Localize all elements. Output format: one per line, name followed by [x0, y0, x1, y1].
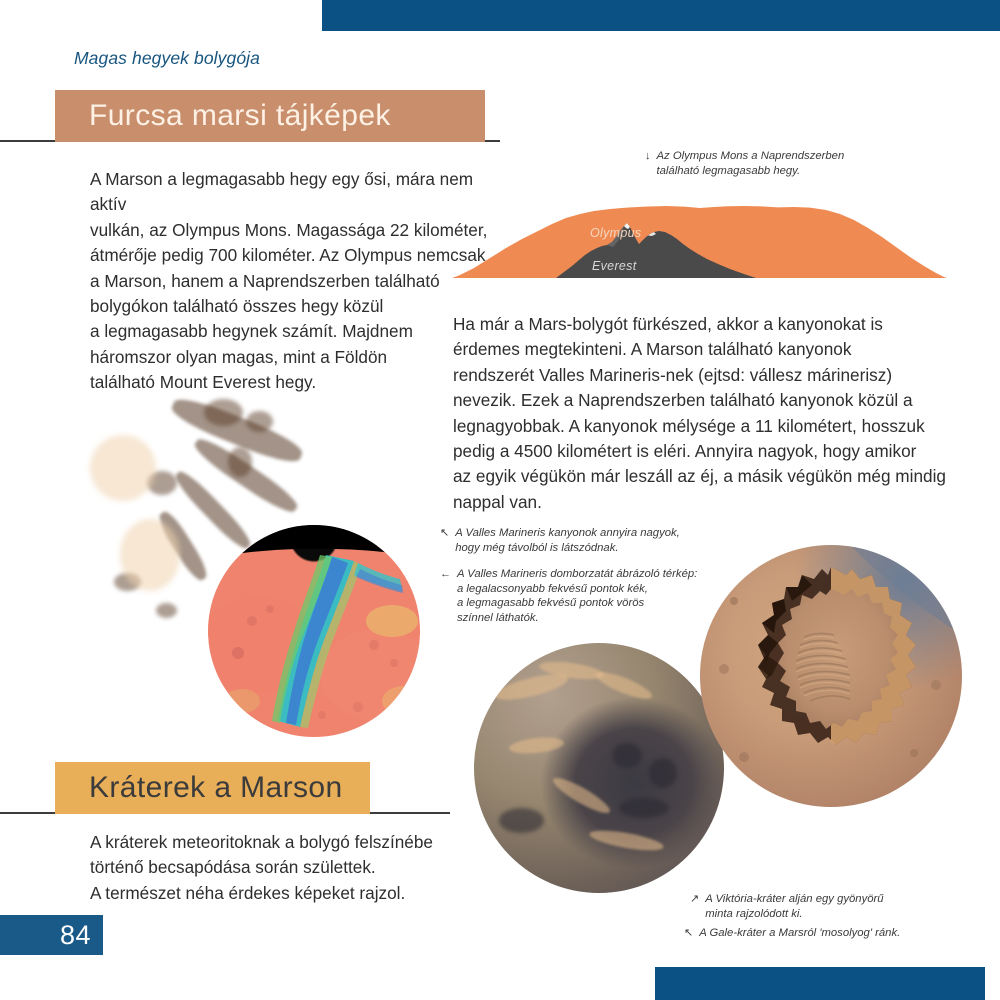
arrow-up-right-icon: ↗ [690, 892, 699, 921]
section-heading-craters: Kráterek a Marson [55, 762, 370, 814]
caption-gale-crater: ↖ A Gale-kráter a Marsról 'mosolyog' rán… [684, 926, 984, 941]
running-head: Magas hegyek bolygója [74, 48, 260, 69]
caption-valles-marineris-distance: ↖ A Valles Marineris kanyonok annyira na… [440, 526, 720, 555]
caption-valles-marineris-map-text: A Valles Marineris domborzatát ábrázoló … [457, 567, 697, 625]
decorative-blue-bar-bottom [655, 967, 985, 1000]
caption-olympus-text: Az Olympus Mons a Naprendszerben találha… [657, 149, 845, 178]
page-number-block: 84 [0, 915, 103, 955]
paragraph-craters: A kráterek meteoritoknak a bolygó felszí… [90, 830, 490, 906]
section-heading-landscapes-label: Furcsa marsi tájképek [89, 99, 391, 133]
arrow-down-icon: ↓ [645, 149, 651, 178]
caption-victoria-crater-text: A Viktória-kráter alján egy gyönyörű min… [705, 892, 883, 921]
page-number: 84 [60, 920, 91, 951]
section-heading-landscapes: Furcsa marsi tájképek [55, 90, 485, 142]
victoria-crater-overlay [700, 545, 962, 807]
victoria-crater-photo [700, 545, 962, 807]
caption-valles-marineris-distance-text: A Valles Marineris kanyonok annyira nagy… [455, 526, 680, 555]
section-heading-craters-label: Kráterek a Marson [89, 771, 343, 805]
paragraph-olympus: A Marson a legmagasabb hegy egy ősi, már… [90, 167, 510, 396]
arrow-up-left-icon: ↖ [684, 926, 693, 941]
caption-valles-marineris-map: ← A Valles Marineris domborzatát ábrázol… [440, 567, 730, 625]
caption-victoria-crater: ↗ A Viktória-kráter alján egy gyönyörű m… [690, 892, 980, 921]
paragraph-canyons: Ha már a Mars-bolygót fürkészed, akkor a… [453, 312, 963, 515]
arrow-left-icon: ← [440, 567, 451, 625]
arrow-up-left-icon: ↖ [440, 526, 449, 555]
valles-marineris-canyon-overlay [208, 525, 420, 737]
caption-gale-crater-text: A Gale-kráter a Marsról 'mosolyog' ránk. [699, 926, 900, 941]
gale-crater-photo [474, 643, 724, 893]
book-page: Magas hegyek bolygója Furcsa marsi tájké… [0, 0, 1000, 1000]
decorative-blue-bar-top [322, 0, 1000, 31]
olympus-everest-comparison-diagram [452, 196, 947, 278]
caption-olympus-diagram: ↓ Az Olympus Mons a Naprendszerben talál… [645, 149, 965, 178]
valles-marineris-topographic-map [208, 525, 420, 737]
